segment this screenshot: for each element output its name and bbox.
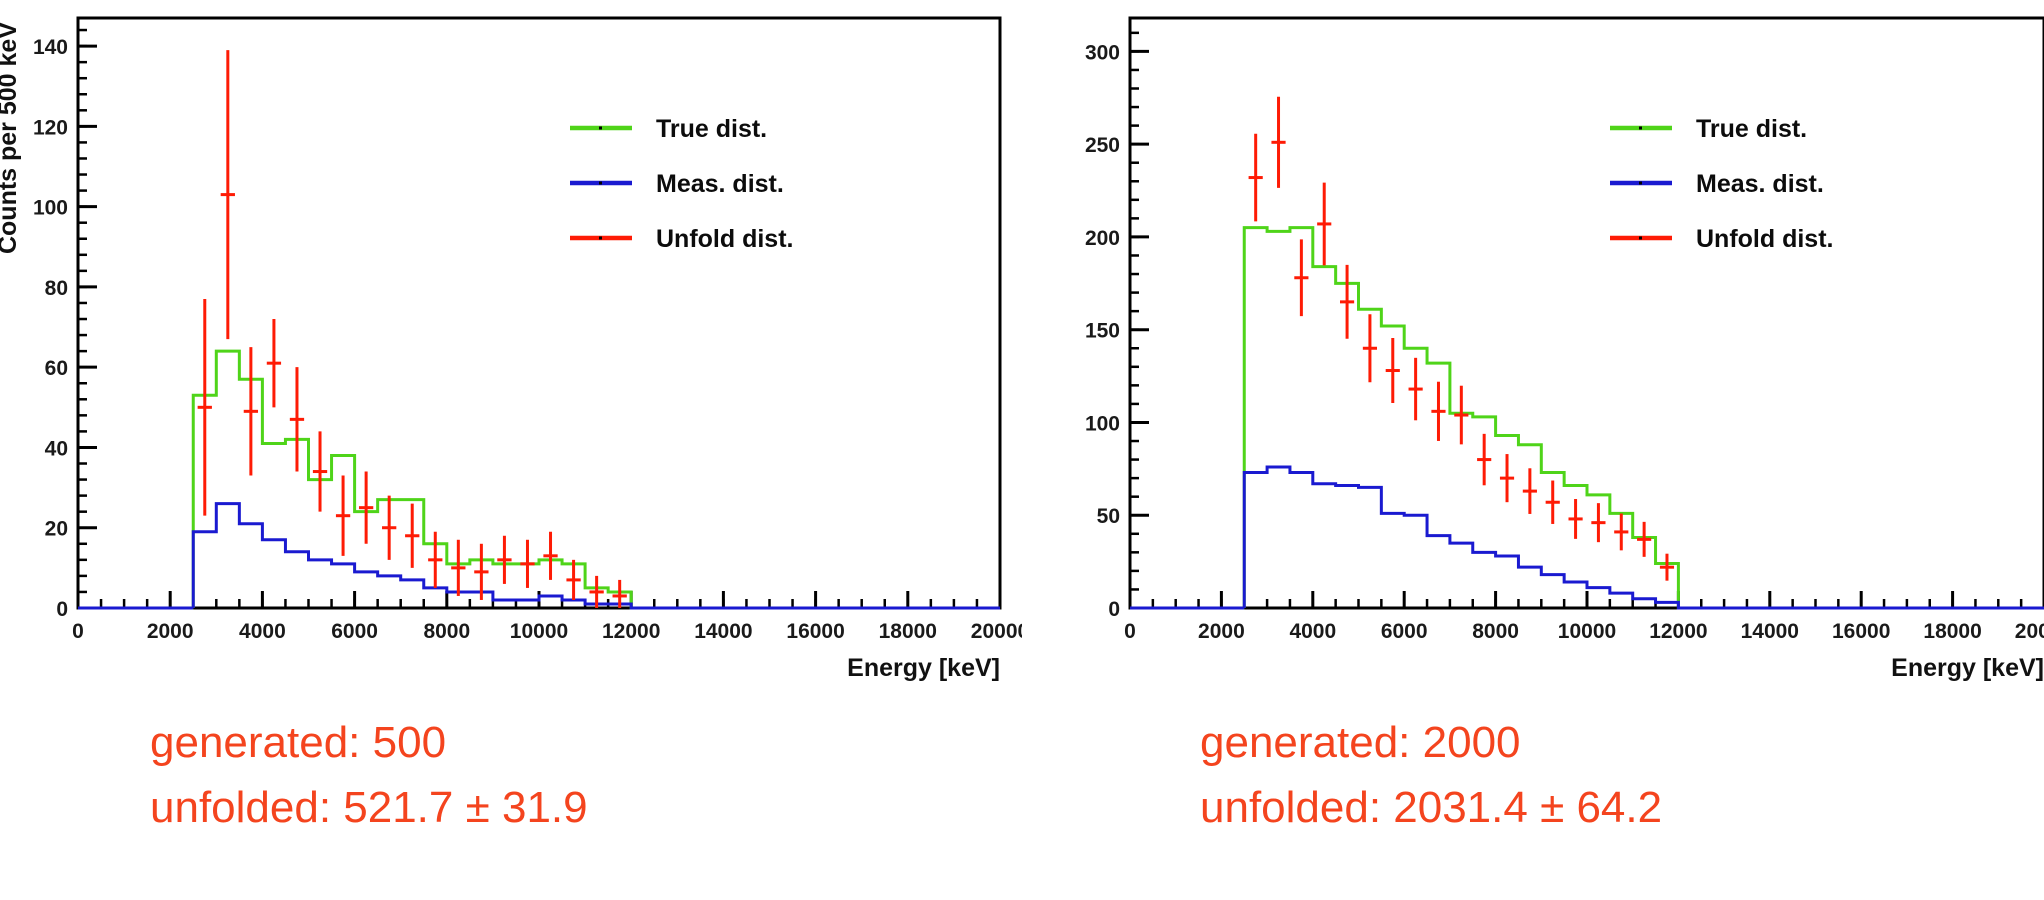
- x-tick-label: 4000: [239, 620, 286, 643]
- left-plot-canvas: 0204060801001201400200040006000800010000…: [0, 0, 1022, 710]
- x-tick-label: 6000: [331, 620, 378, 643]
- y-tick-label: 20: [45, 518, 68, 541]
- left-plot-group: 0204060801001201400200040006000800010000…: [0, 18, 1022, 682]
- figure-root: 0204060801001201400200040006000800010000…: [0, 0, 2044, 900]
- x-tick-label: 2000: [147, 620, 194, 643]
- series-step-true-dist-: [1130, 228, 2044, 608]
- right-generated-caption: generated: 2000: [1200, 718, 1521, 767]
- x-tick-label: 12000: [1649, 620, 1707, 643]
- y-axis-title: Counts per 500 keV: [0, 22, 22, 254]
- x-tick-label: 10000: [510, 620, 568, 643]
- x-tick-label: 8000: [423, 620, 470, 643]
- y-tick-label: 50: [1097, 505, 1120, 528]
- right-panel: 0501001502002503000200040006000800010000…: [1022, 0, 2044, 900]
- x-tick-label: 18000: [1923, 620, 1981, 643]
- legend: True dist.Meas. dist.Unfold dist.: [1610, 115, 1833, 253]
- right-plot-canvas: 0501001502002503000200040006000800010000…: [1022, 0, 2044, 710]
- legend: True dist.Meas. dist.Unfold dist.: [570, 115, 793, 253]
- x-tick-label: 14000: [694, 620, 752, 643]
- y-tick-label: 40: [45, 437, 68, 460]
- y-tick-label: 200: [1085, 227, 1120, 250]
- x-tick-label: 16000: [786, 620, 844, 643]
- x-tick-label: 20000: [971, 620, 1022, 643]
- x-tick-label: 12000: [602, 620, 660, 643]
- legend-label-0: True dist.: [656, 115, 767, 143]
- x-tick-label: 2000: [1198, 620, 1245, 643]
- y-tick-label: 300: [1085, 41, 1120, 64]
- y-tick-label: 100: [33, 197, 68, 220]
- legend-marker-dot-1: [1639, 182, 1642, 185]
- y-tick-label: 0: [1108, 598, 1120, 621]
- x-tick-label: 16000: [1832, 620, 1890, 643]
- x-tick-label: 18000: [879, 620, 937, 643]
- x-tick-label: 0: [72, 620, 84, 643]
- right-unfolded-caption: unfolded: 2031.4 ± 64.2: [1200, 783, 1662, 832]
- x-tick-label: 6000: [1381, 620, 1428, 643]
- legend-label-1: Meas. dist.: [656, 170, 784, 198]
- x-tick-label: 10000: [1558, 620, 1616, 643]
- legend-marker-dot-2: [599, 237, 602, 240]
- series-step-true-dist-: [78, 351, 1000, 608]
- y-tick-label: 100: [1085, 412, 1120, 435]
- left-unfolded-caption: unfolded: 521.7 ± 31.9: [150, 783, 588, 832]
- x-axis-title: Energy [keV]: [847, 654, 1000, 682]
- legend-marker-dot-0: [599, 127, 602, 130]
- x-tick-label: 8000: [1472, 620, 1519, 643]
- legend-marker-dot-0: [1639, 127, 1642, 130]
- legend-marker-dot-2: [1639, 237, 1642, 240]
- x-axis-title: Energy [keV]: [1891, 654, 2044, 682]
- left-generated-caption: generated: 500: [150, 718, 446, 767]
- y-tick-label: 120: [33, 116, 68, 139]
- legend-marker-dot-1: [599, 182, 602, 185]
- y-tick-label: 60: [45, 357, 68, 380]
- x-tick-label: 14000: [1741, 620, 1799, 643]
- right-plot-group: 0501001502002503000200040006000800010000…: [1085, 18, 2044, 682]
- x-tick-label: 0: [1124, 620, 1136, 643]
- y-tick-label: 150: [1085, 320, 1120, 343]
- legend-label-1: Meas. dist.: [1696, 170, 1824, 198]
- y-tick-label: 80: [45, 277, 68, 300]
- left-panel: 0204060801001201400200040006000800010000…: [0, 0, 1022, 900]
- legend-label-2: Unfold dist.: [656, 225, 793, 253]
- legend-label-0: True dist.: [1696, 115, 1807, 143]
- y-tick-label: 0: [56, 598, 68, 621]
- y-tick-label: 140: [33, 36, 68, 59]
- x-tick-label: 20000: [2015, 620, 2044, 643]
- x-tick-label: 4000: [1289, 620, 1336, 643]
- y-tick-label: 250: [1085, 134, 1120, 157]
- legend-label-2: Unfold dist.: [1696, 225, 1833, 253]
- plot-frame: [1130, 18, 2044, 608]
